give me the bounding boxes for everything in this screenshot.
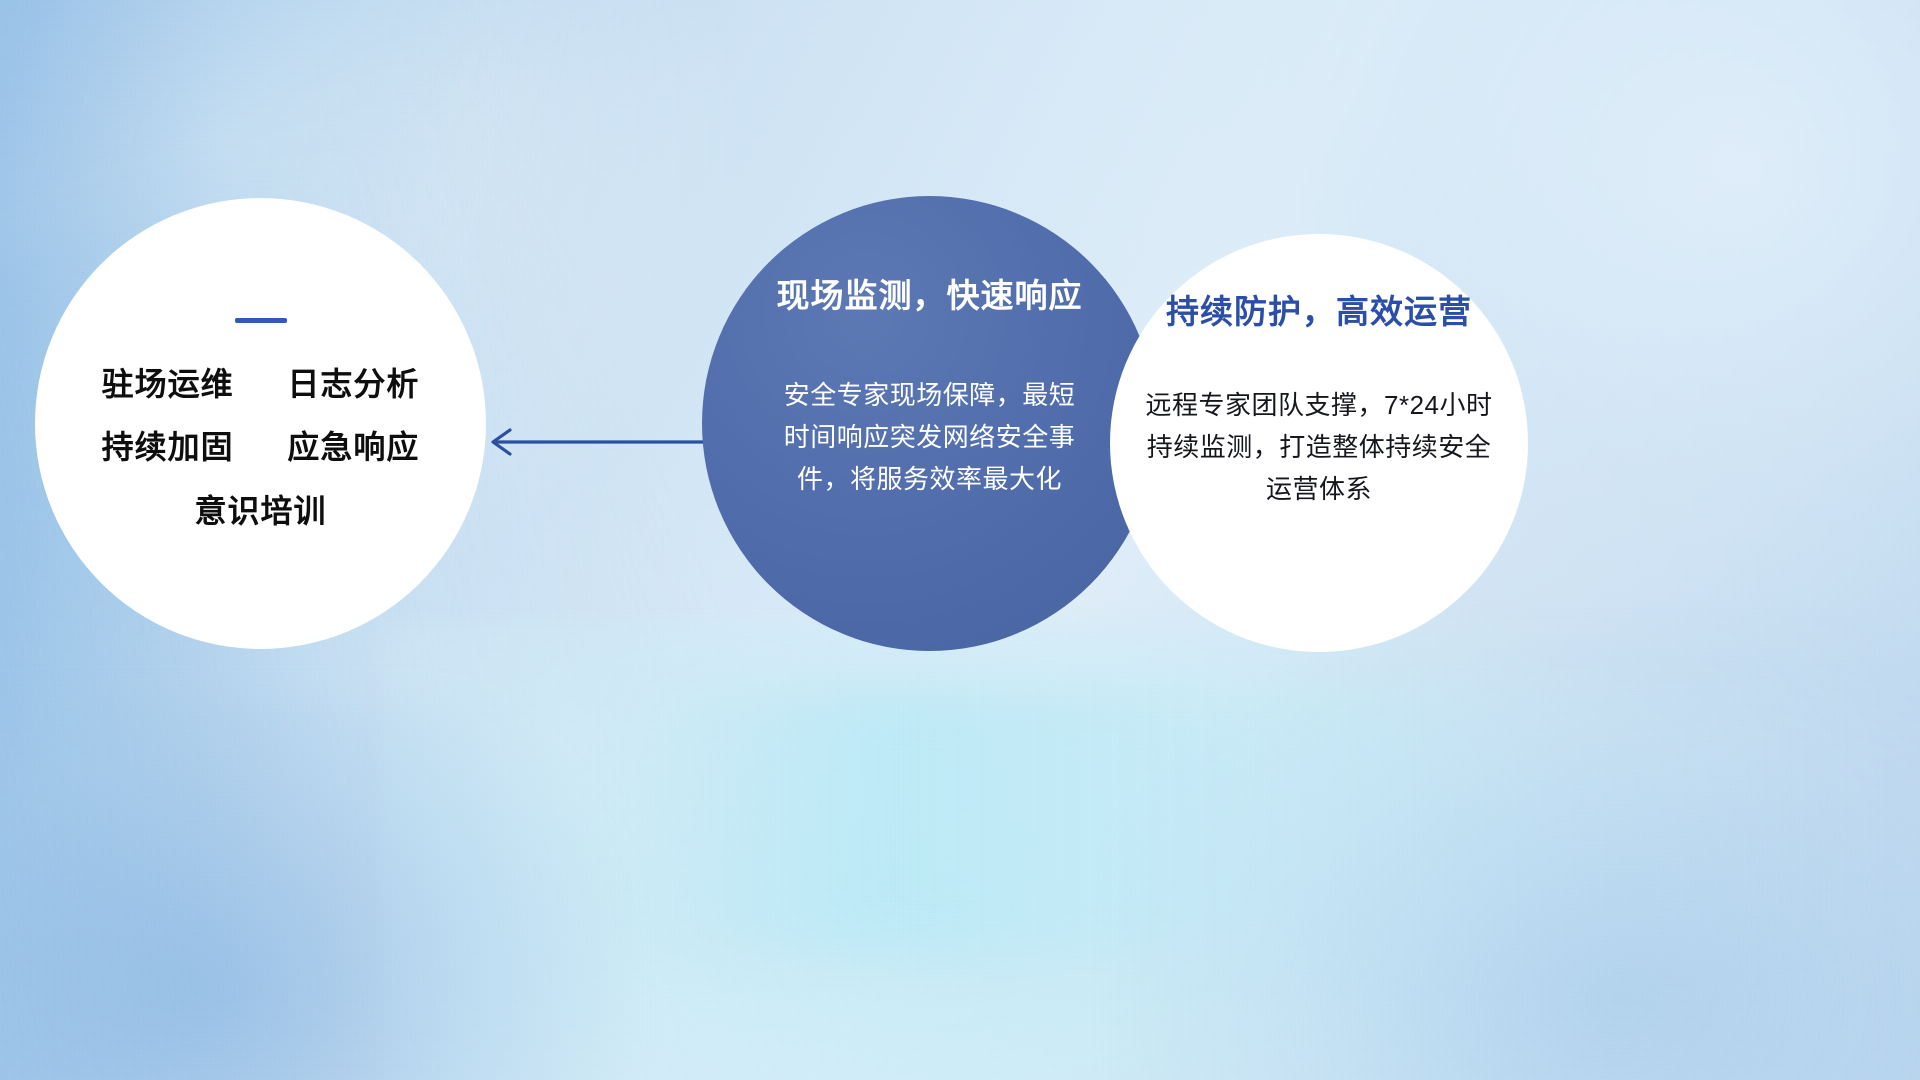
list-item: 意识培训 xyxy=(194,494,326,529)
right-circle-title: 持续防护，高效运营 xyxy=(1166,292,1472,332)
slide-canvas: 驻场运维 日志分析 持续加固 应急响应 意识培训 现场监测，快速响应 安全专家现… xyxy=(0,0,1920,1080)
capability-label: 驻场运维 xyxy=(102,366,234,402)
capabilities-list: 驻场运维 日志分析 持续加固 应急响应 意识培训 xyxy=(102,367,420,529)
capability-label: 意识培训 xyxy=(194,493,326,529)
right-circle-body: 远程专家团队支撑，7*24小时持续监测，打造整体持续安全运营体系 xyxy=(1141,384,1497,510)
list-item: 持续加固 应急响应 xyxy=(102,430,420,465)
horizontal-dash-icon xyxy=(235,318,287,323)
capability-label: 持续加固 xyxy=(102,429,234,465)
capabilities-circle: 驻场运维 日志分析 持续加固 应急响应 意识培训 xyxy=(35,198,486,649)
continuous-protection-circle: 持续防护，高效运营 远程专家团队支撑，7*24小时持续监测，打造整体持续安全运营… xyxy=(1110,234,1528,652)
mid-circle-title: 现场监测，快速响应 xyxy=(777,276,1083,316)
onsite-monitoring-circle: 现场监测，快速响应 安全专家现场保障，最短时间响应突发网络安全事件，将服务效率最… xyxy=(702,196,1157,651)
capability-label: 应急响应 xyxy=(287,429,419,465)
list-item: 驻场运维 日志分析 xyxy=(102,367,420,402)
capability-label: 日志分析 xyxy=(287,366,419,402)
arrow-left-icon xyxy=(484,416,724,468)
mid-circle-body: 安全专家现场保障，最短时间响应突发网络安全事件，将服务效率最大化 xyxy=(782,374,1078,500)
